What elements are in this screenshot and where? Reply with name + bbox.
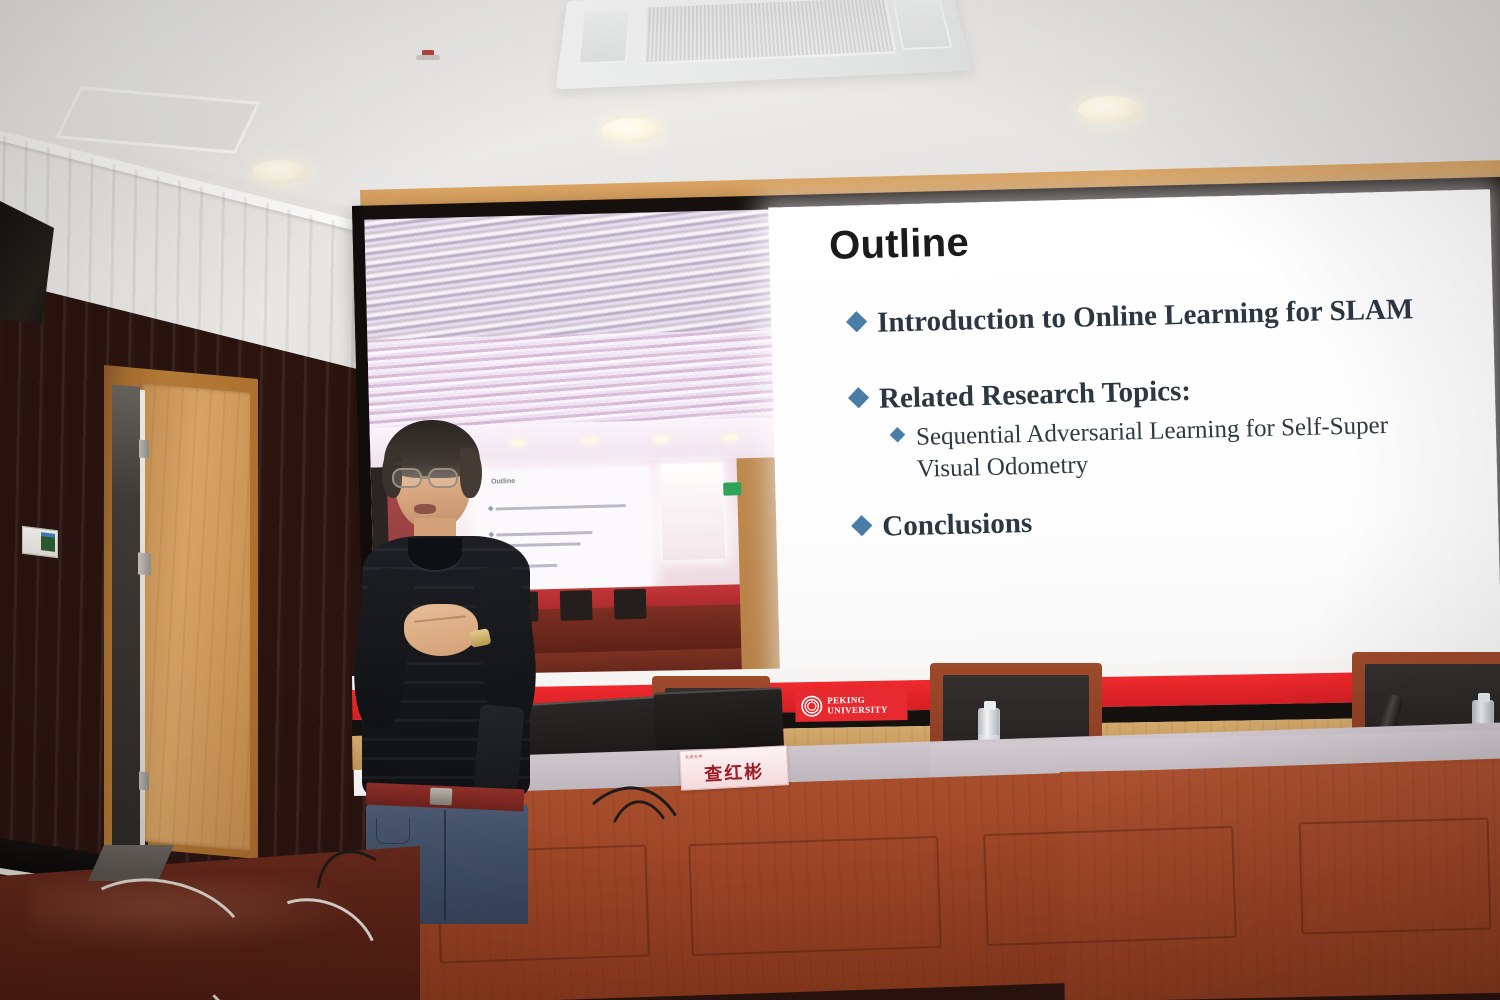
- presenter-brow-right: [430, 462, 456, 465]
- nameplate-name: 查红彬: [681, 756, 788, 788]
- feed-chair-4: [614, 589, 647, 620]
- peking-university-seal-icon: [801, 695, 822, 716]
- presenter-jeans-pocket: [376, 818, 410, 844]
- open-wooden-door[interactable]: [140, 383, 250, 851]
- door-hinge-bottom: [139, 772, 149, 791]
- ac-vent-left: [577, 9, 630, 64]
- presentation-room-photo: Outline 内人講座 Outline: [0, 0, 1500, 1000]
- feed-chair-3: [560, 590, 593, 621]
- peking-university-label: PEKING UNIVERSITY: [827, 694, 888, 715]
- wall-control-panel[interactable]: [22, 526, 58, 558]
- exit-sign-icon: [723, 482, 741, 495]
- ac-grille: [641, 0, 897, 65]
- presenter-jeans-seam: [444, 810, 446, 920]
- slide-bullet-2-text: Related Research Topics:: [879, 373, 1192, 418]
- diamond-bullet-icon: [846, 311, 867, 332]
- slide-bullet-5: Conclusions: [854, 505, 1033, 547]
- presenter-hair-right: [460, 448, 482, 498]
- fire-sprinkler-icon: [416, 50, 440, 68]
- diamond-bullet-icon-small: [890, 427, 906, 443]
- eyeglasses-bridge: [422, 476, 430, 479]
- presenter-hands: [404, 604, 478, 656]
- table-panel-detail-4: [1299, 818, 1492, 935]
- belt-buckle-icon: [430, 788, 453, 806]
- slide-bullet-2: Related Research Topics:: [851, 373, 1192, 419]
- presenter-mouth: [414, 504, 436, 514]
- presenter: [352, 418, 542, 838]
- downlight-2: [602, 118, 662, 143]
- presenter-collar: [408, 538, 462, 572]
- feed-window-2: [661, 463, 725, 561]
- slide-bullet-1: Introduction to Online Learning for SLAM: [849, 291, 1414, 342]
- ceiling-ac-cassette: [556, 0, 973, 89]
- slide-content: Outline Introduction to Online Learning …: [768, 189, 1500, 681]
- slide-bullet-5-text: Conclusions: [882, 505, 1033, 546]
- diamond-bullet-icon: [851, 515, 872, 536]
- table-panel-detail-2: [688, 836, 942, 956]
- door-lock-plate: [138, 552, 151, 575]
- downlight-3: [1078, 96, 1142, 123]
- downlight-1: [252, 160, 310, 184]
- slide-title: Outline: [829, 220, 970, 269]
- eyeglasses-icon-left: [392, 468, 422, 488]
- nameplate-org-mark: 北京大学: [685, 754, 702, 761]
- desk-nameplate: 北京大学 查红彬: [679, 745, 789, 791]
- presenter-brow-left: [394, 462, 420, 465]
- diamond-bullet-icon: [848, 387, 869, 408]
- peking-university-banner: PEKING UNIVERSITY: [795, 688, 908, 722]
- table-panel-detail-3: [983, 826, 1237, 946]
- ac-vent-right: [892, 0, 953, 50]
- slide-bullet-1-text: Introduction to Online Learning for SLAM: [877, 291, 1414, 342]
- door-hinge-top: [139, 440, 149, 459]
- eyeglasses-icon-right: [428, 468, 458, 488]
- pku-line-2: UNIVERSITY: [827, 704, 888, 715]
